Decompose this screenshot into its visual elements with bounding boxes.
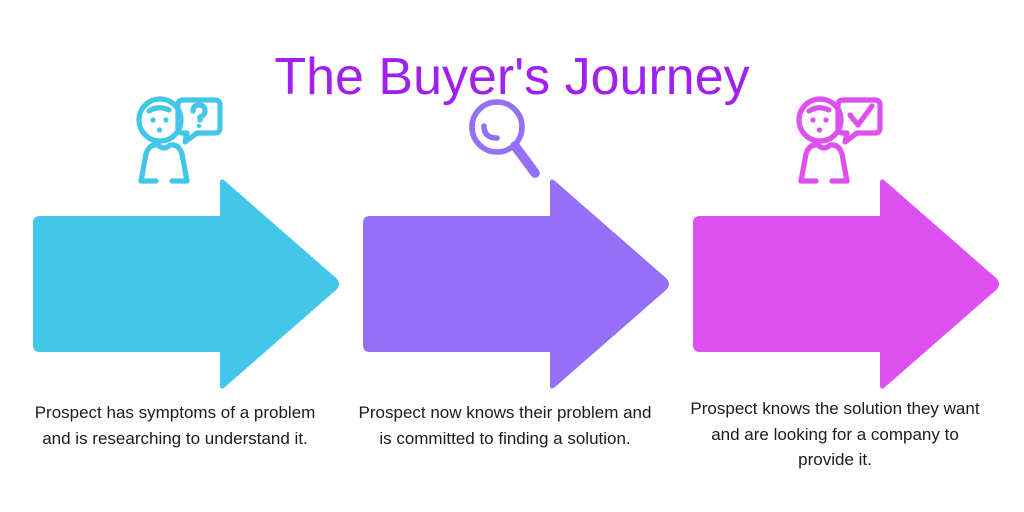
infographic-canvas: The Buyer's Journey	[0, 0, 1024, 512]
stage-funnel-position-consideration: (Middle of the funnel)	[340, 450, 640, 470]
stage-consideration: Consideration (Middle of the funnel) Pro…	[340, 0, 670, 512]
arrow-decision: Decision (Bottom of the funnel)	[670, 178, 1000, 390]
stage-caption-consideration: Prospect now knows their problem and is …	[355, 400, 655, 451]
magnifying-glass-icon	[457, 92, 553, 184]
stage-funnel-position-awareness: (Top of the funnel)	[10, 450, 310, 470]
stage-caption-awareness: Prospect has symptoms of a problem and i…	[25, 400, 325, 451]
arrow-shape-consideration	[340, 178, 670, 390]
stage-icon-decision	[670, 92, 1000, 184]
arrow-shape-awareness	[10, 178, 340, 390]
stage-icon-awareness	[10, 92, 340, 184]
stage-awareness: Awareness (Top of the funnel) Prospect h…	[10, 0, 340, 512]
person-checkmark-bubble-icon	[787, 92, 883, 184]
arrow-awareness: Awareness (Top of the funnel)	[10, 178, 340, 390]
stage-decision: Decision (Bottom of the funnel) Prospect…	[670, 0, 1000, 512]
person-question-bubble-icon	[127, 92, 223, 184]
arrow-shape-decision	[670, 178, 1000, 390]
arrow-consideration: Consideration (Middle of the funnel)	[340, 178, 670, 390]
stage-icon-consideration	[340, 92, 670, 184]
stage-caption-decision: Prospect knows the solution they want an…	[685, 396, 985, 473]
